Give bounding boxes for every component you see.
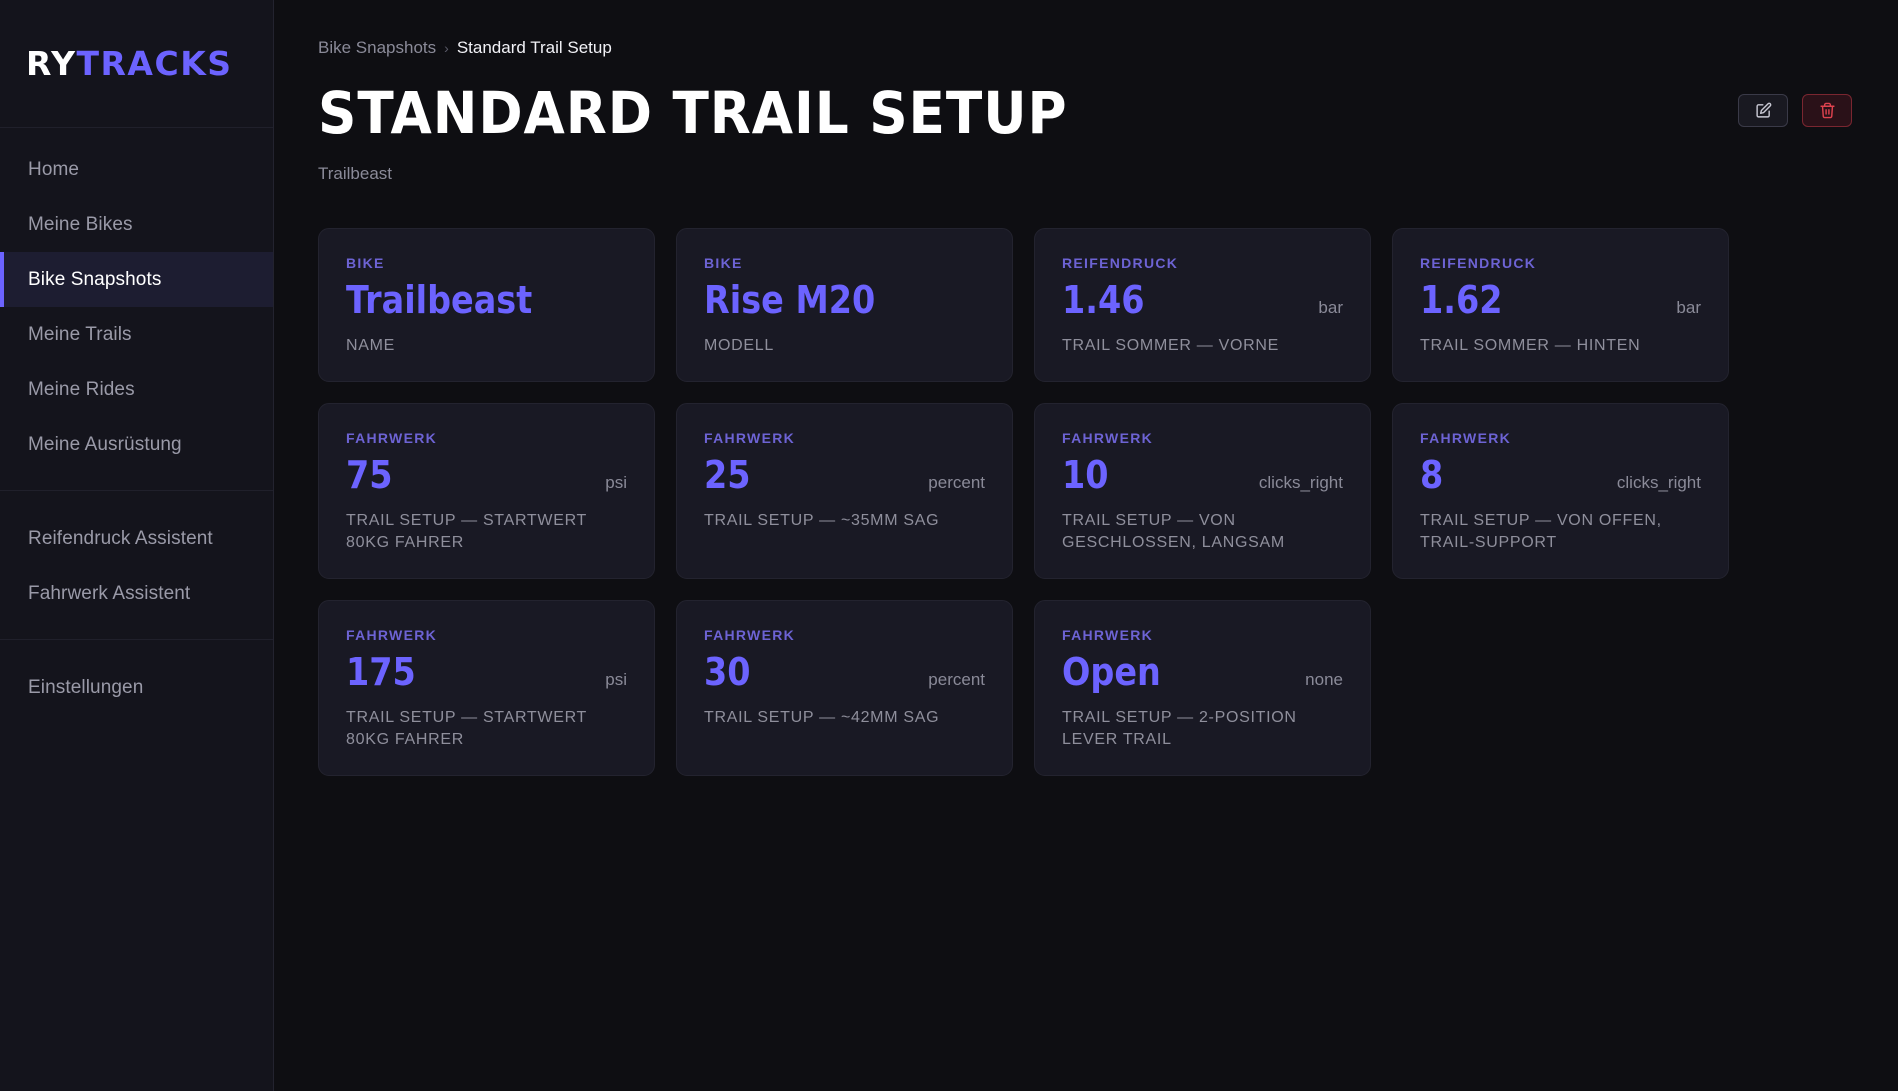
- snapshot-card: FAHRWERK175psiTRAIL SETUP — STARTWERT 80…: [318, 600, 655, 776]
- brand-part-tracks: TRACKS: [77, 44, 233, 83]
- snapshot-card: FAHRWERK8clicks_rightTRAIL SETUP — VON O…: [1392, 403, 1729, 579]
- delete-button[interactable]: [1802, 94, 1852, 127]
- card-value-row: Rise M20: [704, 281, 985, 321]
- trash-icon: [1819, 102, 1836, 119]
- sidebar-item-label: Meine Bikes: [28, 214, 133, 236]
- card-category-label: REIFENDRUCK: [1062, 255, 1343, 271]
- sidebar-item-label: Bike Snapshots: [28, 269, 161, 291]
- sidebar-item-label: Meine Rides: [28, 379, 135, 401]
- card-caption: TRAIL SETUP — VON GESCHLOSSEN, LANGSAM: [1062, 510, 1343, 554]
- card-category-label: FAHRWERK: [1062, 430, 1343, 446]
- card-value: Trailbeast: [346, 281, 532, 321]
- card-caption: TRAIL SETUP — STARTWERT 80KG FAHRER: [346, 510, 627, 554]
- card-caption: MODELL: [704, 335, 985, 357]
- card-value: 10: [1062, 456, 1109, 496]
- card-unit: psi: [605, 670, 627, 690]
- sidebar-item-einstellungen[interactable]: Einstellungen: [0, 660, 273, 715]
- card-value: 1.62: [1420, 281, 1503, 321]
- page-title: STANDARD TRAIL SETUP: [318, 84, 1068, 142]
- sidebar-item-label: Meine Trails: [28, 324, 132, 346]
- card-value-row: 10clicks_right: [1062, 456, 1343, 496]
- card-value: 30: [704, 653, 751, 693]
- header-actions: [1738, 94, 1852, 127]
- card-unit: bar: [1676, 298, 1701, 318]
- card-value: 8: [1420, 456, 1443, 496]
- breadcrumb-current: Standard Trail Setup: [457, 38, 612, 58]
- sidebar-item-label: Einstellungen: [28, 677, 143, 699]
- snapshot-card: REIFENDRUCK1.46barTRAIL SOMMER — VORNE: [1034, 228, 1371, 382]
- sidebar-nav-primary: Home Meine Bikes Bike Snapshots Meine Tr…: [0, 128, 273, 472]
- card-caption: TRAIL SETUP — VON OFFEN, TRAIL-SUPPORT: [1420, 510, 1701, 554]
- card-category-label: REIFENDRUCK: [1420, 255, 1701, 271]
- card-value: 175: [346, 653, 416, 693]
- sidebar: RYTRACKS Home Meine Bikes Bike Snapshots…: [0, 0, 274, 1091]
- snapshot-card: FAHRWERK25percentTRAIL SETUP — ~35MM SAG: [676, 403, 1013, 579]
- card-value: Rise M20: [704, 281, 875, 321]
- brand-wordmark: RYTRACKS: [26, 44, 233, 83]
- card-value: 1.46: [1062, 281, 1145, 321]
- card-value-row: 8clicks_right: [1420, 456, 1701, 496]
- snapshot-card: FAHRWERK30percentTRAIL SETUP — ~42MM SAG: [676, 600, 1013, 776]
- sidebar-item-fahrwerk-assistent[interactable]: Fahrwerk Assistent: [0, 566, 273, 621]
- snapshot-card: BIKETrailbeastNAME: [318, 228, 655, 382]
- card-unit: percent: [928, 473, 985, 493]
- brand-part-ry: RY: [26, 44, 77, 83]
- sidebar-item-meine-rides[interactable]: Meine Rides: [0, 362, 273, 417]
- sidebar-item-label: Meine Ausrüstung: [28, 434, 182, 456]
- sidebar-item-home[interactable]: Home: [0, 142, 273, 197]
- sidebar-item-meine-trails[interactable]: Meine Trails: [0, 307, 273, 362]
- card-caption: TRAIL SOMMER — HINTEN: [1420, 335, 1701, 357]
- card-value: 25: [704, 456, 751, 496]
- card-category-label: FAHRWERK: [1420, 430, 1701, 446]
- snapshot-card: FAHRWERKOpennoneTRAIL SETUP — 2-POSITION…: [1034, 600, 1371, 776]
- card-unit: bar: [1318, 298, 1343, 318]
- sidebar-nav-assistants: Reifendruck Assistent Fahrwerk Assistent: [0, 490, 273, 621]
- card-category-label: FAHRWERK: [346, 430, 627, 446]
- sidebar-item-reifendruck-assistent[interactable]: Reifendruck Assistent: [0, 511, 273, 566]
- snapshot-card: FAHRWERK10clicks_rightTRAIL SETUP — VON …: [1034, 403, 1371, 579]
- card-caption: TRAIL SETUP — ~35MM SAG: [704, 510, 985, 532]
- card-unit: none: [1305, 670, 1343, 690]
- card-value: Open: [1062, 653, 1161, 693]
- sidebar-item-bike-snapshots[interactable]: Bike Snapshots: [0, 252, 273, 307]
- card-value-row: 75psi: [346, 456, 627, 496]
- card-category-label: FAHRWERK: [704, 430, 985, 446]
- edit-pencil-icon: [1755, 102, 1772, 119]
- card-value-row: 175psi: [346, 653, 627, 693]
- sidebar-item-meine-ausruestung[interactable]: Meine Ausrüstung: [0, 417, 273, 472]
- snapshot-card-grid: BIKETrailbeastNAMEBIKERise M20MODELLREIF…: [318, 228, 1852, 776]
- card-unit: psi: [605, 473, 627, 493]
- breadcrumb-separator-icon: ›: [444, 40, 449, 56]
- sidebar-item-label: Reifendruck Assistent: [28, 528, 213, 550]
- card-value: 75: [346, 456, 393, 496]
- card-unit: percent: [928, 670, 985, 690]
- edit-button[interactable]: [1738, 94, 1788, 127]
- card-caption: TRAIL SETUP — 2-POSITION LEVER TRAIL: [1062, 707, 1343, 751]
- sidebar-item-label: Home: [28, 159, 79, 181]
- sidebar-item-label: Fahrwerk Assistent: [28, 583, 190, 605]
- app-logo[interactable]: RYTRACKS: [0, 0, 273, 128]
- card-value-row: Trailbeast: [346, 281, 627, 321]
- card-caption: TRAIL SETUP — STARTWERT 80KG FAHRER: [346, 707, 627, 751]
- snapshot-card: REIFENDRUCK1.62barTRAIL SOMMER — HINTEN: [1392, 228, 1729, 382]
- breadcrumb-parent-link[interactable]: Bike Snapshots: [318, 38, 436, 58]
- card-value-row: 30percent: [704, 653, 985, 693]
- snapshot-card: BIKERise M20MODELL: [676, 228, 1013, 382]
- card-value-row: 1.46bar: [1062, 281, 1343, 321]
- card-category-label: FAHRWERK: [1062, 627, 1343, 643]
- card-caption: TRAIL SOMMER — VORNE: [1062, 335, 1343, 357]
- card-unit: clicks_right: [1259, 473, 1343, 493]
- sidebar-item-meine-bikes[interactable]: Meine Bikes: [0, 197, 273, 252]
- card-value-row: 1.62bar: [1420, 281, 1701, 321]
- snapshot-card: FAHRWERK75psiTRAIL SETUP — STARTWERT 80K…: [318, 403, 655, 579]
- page-subtitle: Trailbeast: [318, 164, 1133, 184]
- breadcrumb: Bike Snapshots › Standard Trail Setup: [318, 38, 1852, 58]
- main-content: Bike Snapshots › Standard Trail Setup ST…: [274, 0, 1898, 1091]
- card-category-label: BIKE: [704, 255, 985, 271]
- sidebar-nav-settings: Einstellungen: [0, 639, 273, 715]
- card-category-label: BIKE: [346, 255, 627, 271]
- card-value-row: Opennone: [1062, 653, 1343, 693]
- card-category-label: FAHRWERK: [704, 627, 985, 643]
- page-header: STANDARD TRAIL SETUP Trailbeast: [318, 84, 1852, 184]
- card-value-row: 25percent: [704, 456, 985, 496]
- card-caption: TRAIL SETUP — ~42MM SAG: [704, 707, 985, 729]
- card-unit: clicks_right: [1617, 473, 1701, 493]
- card-category-label: FAHRWERK: [346, 627, 627, 643]
- card-caption: NAME: [346, 335, 627, 357]
